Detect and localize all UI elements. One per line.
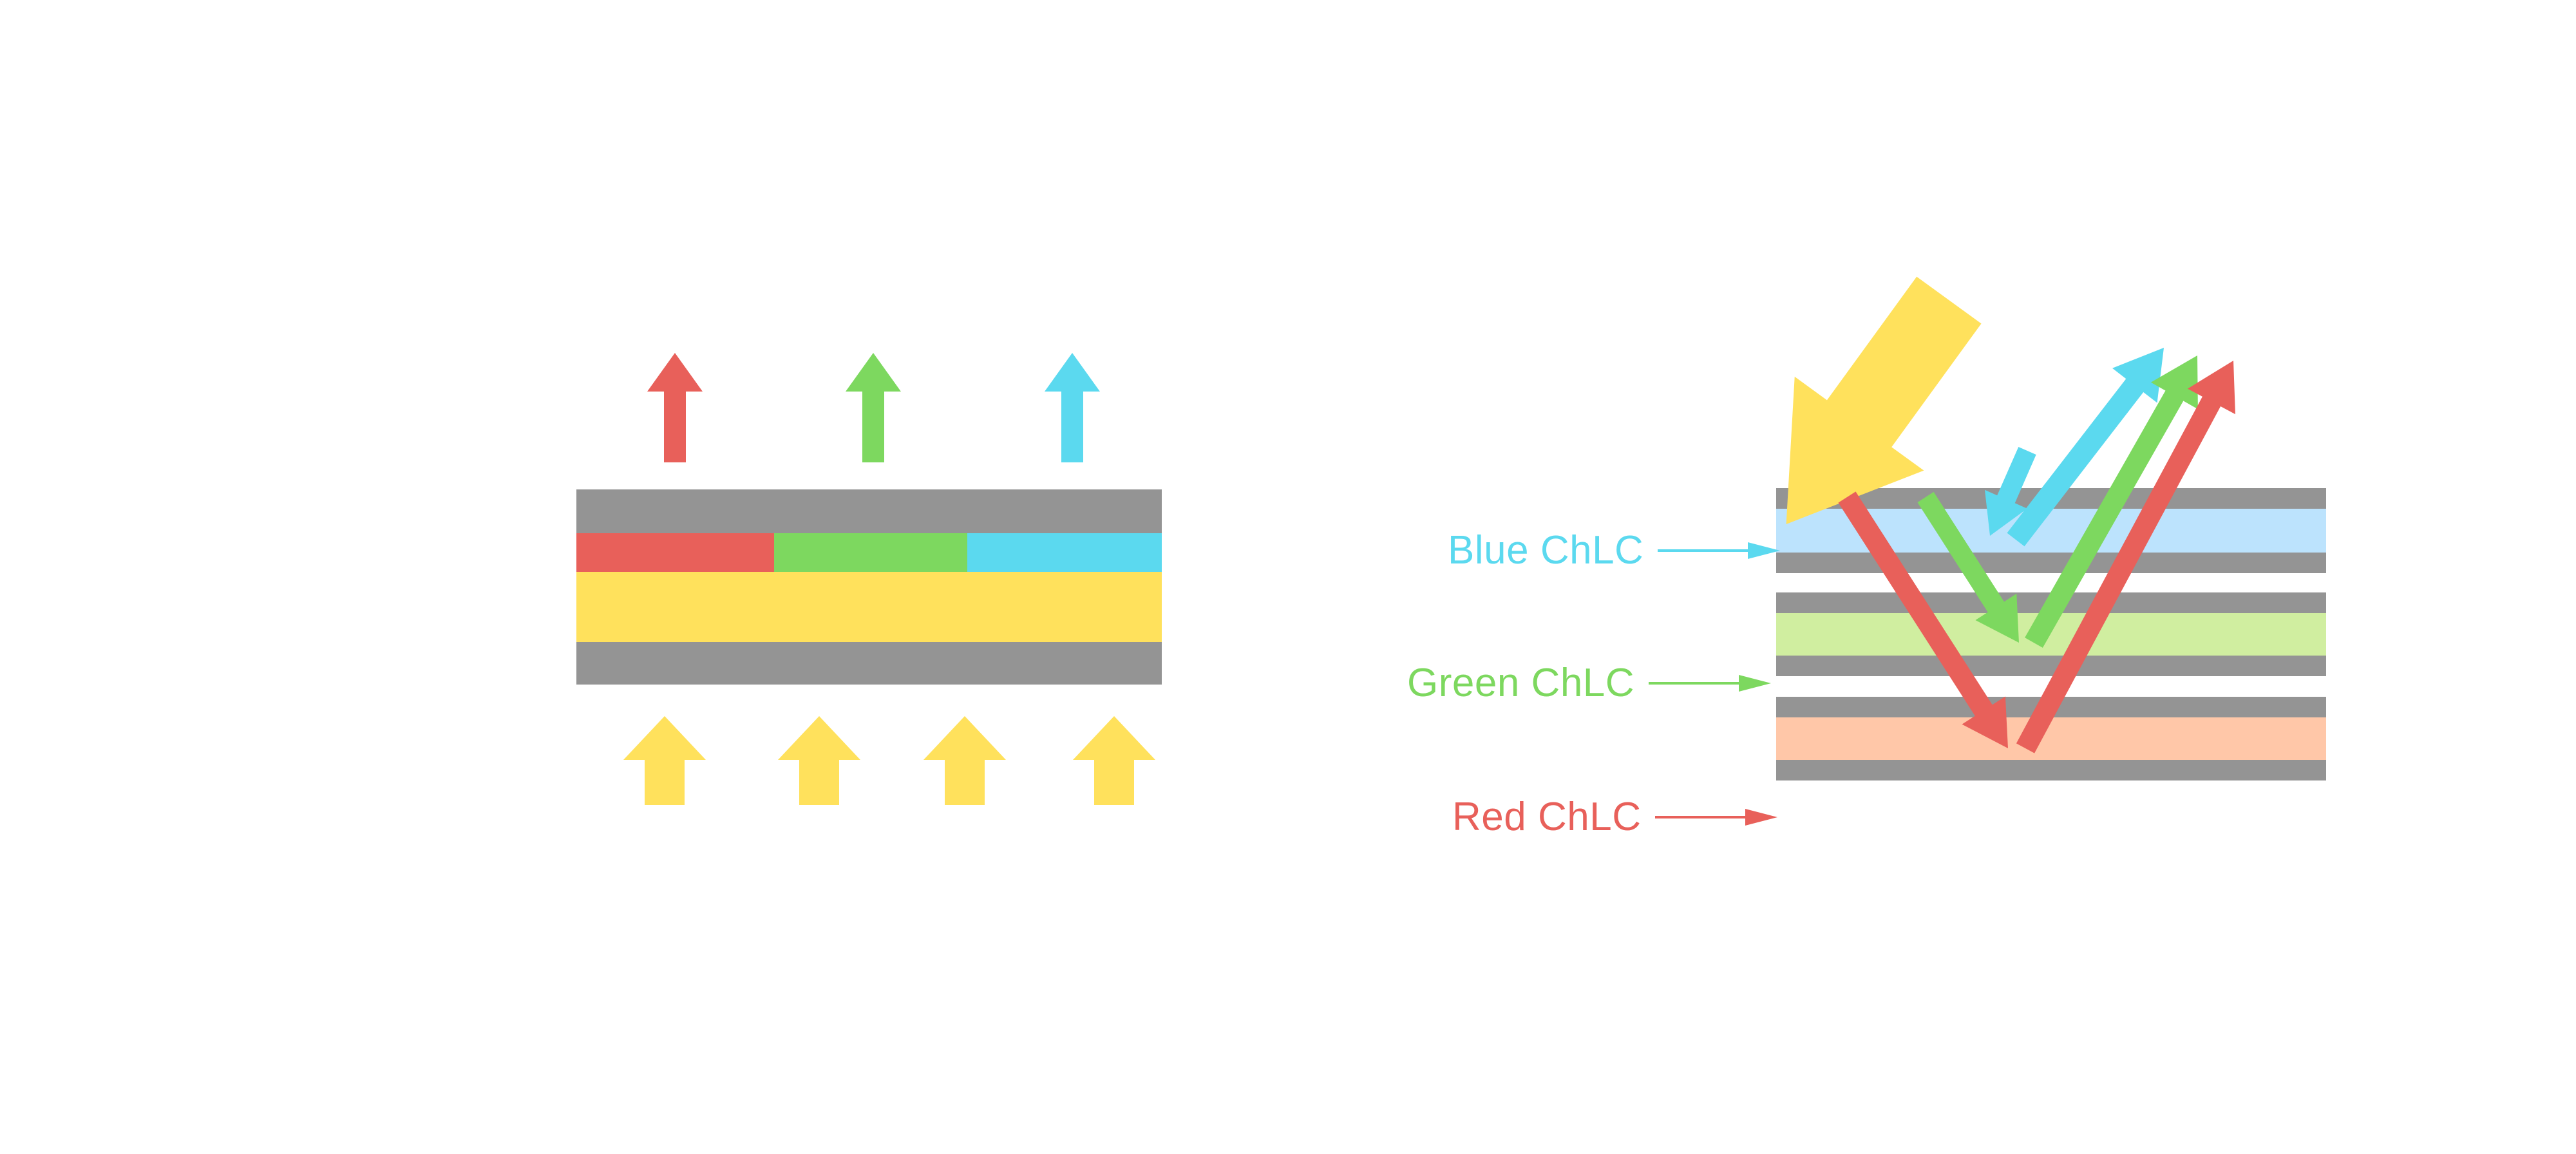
red-chlc-label: Red ChLC xyxy=(1452,797,1641,837)
backlight-arrow-backlight-1 xyxy=(623,716,706,805)
layer-blue-chlc-layer xyxy=(1776,509,2326,553)
green-label-pointer-icon xyxy=(1649,669,1771,697)
red-label-pointer-icon xyxy=(1655,803,1777,831)
layer-green-chlc-layer xyxy=(1776,613,2326,656)
transmissive-display-stack xyxy=(576,489,1162,685)
reflective-chlc-stack xyxy=(1776,488,2326,780)
blue-chlc-label-row: Blue ChLC xyxy=(1448,531,1780,571)
layer-blue-top-electrode xyxy=(1776,488,2326,509)
emitted-arrow-red-emit xyxy=(647,353,703,462)
layer-gap-2 xyxy=(1776,676,2326,697)
layer-red-top-electrode xyxy=(1776,697,2326,717)
green-chlc-label: Green ChLC xyxy=(1407,663,1634,703)
red-chlc-label-row: Red ChLC xyxy=(1452,797,1777,837)
cyan-filter-segment xyxy=(967,533,1162,572)
color-filter-row xyxy=(576,533,1162,572)
blue-label-pointer-icon xyxy=(1658,536,1780,565)
backlight-arrow-backlight-3 xyxy=(923,716,1006,805)
layer-backlight xyxy=(576,572,1162,642)
layer-red-bottom-electrode xyxy=(1776,760,2326,780)
backlight-arrow-backlight-2 xyxy=(778,716,860,805)
layer-red-chlc-layer xyxy=(1776,717,2326,760)
emitted-arrow-green-emit xyxy=(846,353,901,462)
green-chlc-label-row: Green ChLC xyxy=(1407,663,1771,703)
layer-bottom-electrode xyxy=(576,642,1162,685)
blue-chlc-label: Blue ChLC xyxy=(1448,531,1643,571)
emitted-arrow-cyan-emit xyxy=(1045,353,1100,462)
green-filter-segment xyxy=(774,533,967,572)
layer-top-electrode xyxy=(576,489,1162,533)
layer-green-bottom-electrode xyxy=(1776,656,2326,676)
layer-blue-bottom-electrode xyxy=(1776,553,2326,573)
diagram-canvas: Blue ChLC Green ChLC Red ChLC xyxy=(0,0,2576,1154)
layer-green-top-electrode xyxy=(1776,592,2326,613)
backlight-arrow-backlight-4 xyxy=(1073,716,1155,805)
layer-gap-1 xyxy=(1776,573,2326,592)
red-filter-segment xyxy=(576,533,774,572)
